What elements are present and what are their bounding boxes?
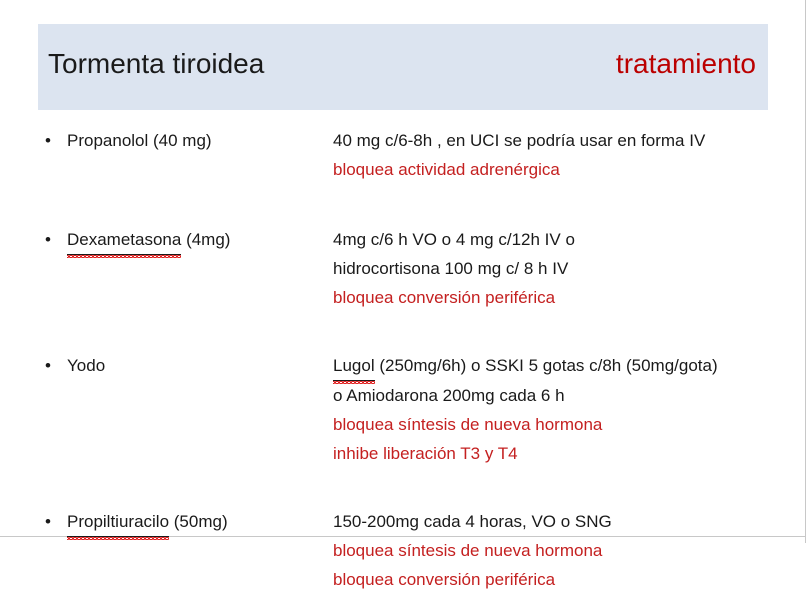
drug-name: Dexametasona (4mg): [42, 225, 230, 255]
detail-line-mechanism: bloquea conversión periférica: [333, 565, 799, 594]
drug-name: Propiltiuracilo (50mg): [42, 507, 228, 537]
treatment-row: •Dexametasona (4mg)4mg c/6 h VO o 4 mg c…: [0, 225, 809, 312]
bullet-icon: •: [45, 507, 55, 536]
treatment-row: •Propiltiuracilo (50mg)150-200mg cada 4 …: [0, 507, 809, 594]
slide-title-band: Tormenta tiroidea tratamiento: [38, 24, 768, 110]
drug-name: Propanolol (40 mg): [42, 126, 212, 155]
detail-line-dose: 4mg c/6 h VO o 4 mg c/12h IV o: [333, 225, 799, 254]
bullet-icon: •: [45, 351, 55, 380]
detail-column: 150-200mg cada 4 horas, VO o SNGbloquea …: [333, 507, 809, 594]
bullet-icon: •: [45, 225, 55, 254]
detail-line-dose: 40 mg c/6-8h , en UCI se podría usar en …: [333, 126, 799, 155]
detail-line-mechanism: inhibe liberación T3 y T4: [333, 439, 799, 468]
slide-body: •Propanolol (40 mg)40 mg c/6-8h , en UCI…: [0, 126, 809, 594]
detail-line-dose: Lugol (250mg/6h) o SSKI 5 gotas c/8h (50…: [333, 351, 799, 381]
page-title: Tormenta tiroidea: [48, 48, 264, 80]
slide-canvas: Tormenta tiroidea tratamiento •Propanolo…: [0, 0, 809, 543]
bullet-icon: •: [45, 126, 55, 155]
detail-column: Lugol (250mg/6h) o SSKI 5 gotas c/8h (50…: [333, 351, 809, 468]
drug-column: •Propiltiuracilo (50mg): [0, 507, 333, 537]
drug-column: •Dexametasona (4mg): [0, 225, 333, 255]
detail-line-mechanism: bloquea conversión periférica: [333, 283, 799, 312]
detail-column: 4mg c/6 h VO o 4 mg c/12h IV ohidrocorti…: [333, 225, 809, 312]
spellcheck-underlined-word: Dexametasona: [67, 225, 181, 255]
detail-line-mechanism: bloquea síntesis de nueva hormona: [333, 536, 799, 565]
page-subtitle: tratamiento: [616, 48, 760, 80]
treatment-row: •Propanolol (40 mg)40 mg c/6-8h , en UCI…: [0, 126, 809, 184]
detail-line-dose: 150-200mg cada 4 horas, VO o SNG: [333, 507, 799, 536]
treatment-row: •YodoLugol (250mg/6h) o SSKI 5 gotas c/8…: [0, 351, 809, 468]
drug-column: •Yodo: [0, 351, 333, 380]
detail-column: 40 mg c/6-8h , en UCI se podría usar en …: [333, 126, 809, 184]
detail-line-dose: hidrocortisona 100 mg c/ 8 h IV: [333, 254, 799, 283]
drug-column: •Propanolol (40 mg): [0, 126, 333, 155]
spellcheck-underlined-word: Lugol: [333, 351, 375, 381]
detail-line-mechanism: bloquea síntesis de nueva hormona: [333, 410, 799, 439]
spellcheck-underlined-word: Propiltiuracilo: [67, 507, 169, 537]
detail-line-mechanism: bloquea actividad adrenérgica: [333, 155, 799, 184]
detail-line-dose: o Amiodarona 200mg cada 6 h: [333, 381, 799, 410]
